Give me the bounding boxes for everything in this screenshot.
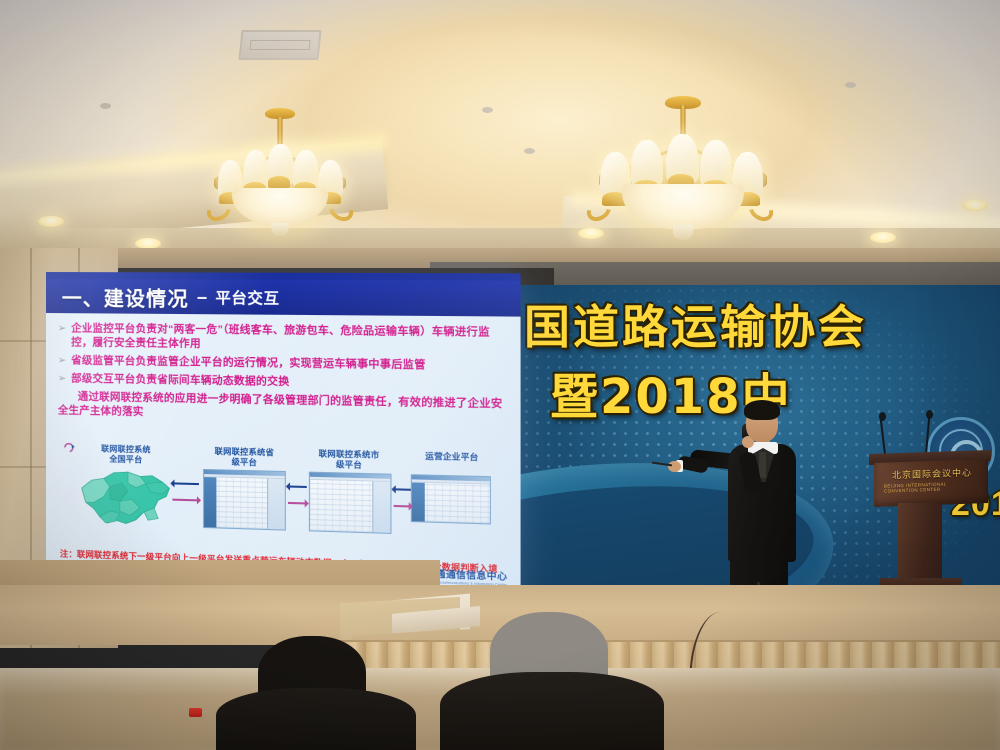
audience-shoulders-right <box>440 672 664 750</box>
sprinkler-icon <box>100 103 111 109</box>
slide-title-dash: – <box>197 286 207 307</box>
diagram-screenshot-province <box>203 469 286 531</box>
venue-name-cn: 北京国际会议中心 <box>892 469 972 482</box>
ceiling-vent <box>238 30 321 60</box>
chandelier-left <box>200 108 360 238</box>
chandelier-right <box>578 96 788 246</box>
slide-title-sub: 平台交互 <box>215 286 279 308</box>
speaker-hair <box>744 400 780 420</box>
arrow-left-to-city <box>394 488 411 491</box>
sprinkler-icon <box>482 107 493 113</box>
ceiling-downlight <box>870 232 896 243</box>
arrow-right-from-city <box>394 505 411 508</box>
sprinkler-icon <box>845 82 856 88</box>
bullet-text: 部级交互平台负责省际间车辆动态数据的交换 <box>71 371 289 389</box>
slide-bullet: ➢ 企业监控平台负责对“两客一危”（班线客车、旅游包车、危险品运输车辆）车辆进行… <box>58 321 507 355</box>
arrow-left-to-province <box>288 485 307 488</box>
ceiling-downlight <box>962 200 988 211</box>
bullet-text: 企业监控平台负责对“两客一危”（班线客车、旅游包车、危险品运输车辆）车辆进行监控… <box>71 321 507 355</box>
diagram-node-province: 联网联控系统省 级平台 <box>197 446 292 469</box>
slide-title-bar: 一、建设情况 – 平台交互 <box>46 279 521 317</box>
backdrop-title-line1: 中国道路运输协会 <box>475 291 867 357</box>
platform-badge-icon <box>64 442 76 452</box>
red-object-on-table <box>189 708 202 717</box>
podium-stem <box>898 503 942 583</box>
bullet-text: 省级监管平台负责监管企业平台的运行情况，实现营运车辆事中事后监管 <box>71 353 425 373</box>
arrow-left-to-national <box>172 482 199 485</box>
diagram-node-enterprise: 运营企业平台 <box>402 451 502 464</box>
diagram-node-label: 联网联控系统市 级平台 <box>300 449 397 472</box>
platform-interaction-diagram: 联网联控系统 全国平台 <box>56 443 510 554</box>
arrow-right-from-national <box>172 499 199 502</box>
presentation-slide: 一、建设情况 – 平台交互 ➢ 企业监控平台负责对“两客一危”（班线客车、旅游包… <box>46 272 521 609</box>
audience-shoulders-left <box>216 688 416 750</box>
conference-photo-scene: 中国道路运输协会 暨2018中 201 北京国际会议中心 Beijing Int… <box>0 0 1000 750</box>
slide-paragraph: 通过联网联控系统的应用进一步明确了各级管理部门的监管责任，有效的推进了企业安全生… <box>58 389 507 428</box>
diagram-node-city: 联网联控系统市 级平台 <box>300 449 397 472</box>
arrow-right-from-province <box>288 502 307 505</box>
speaker-right-hand <box>668 461 681 472</box>
china-map-icon <box>70 462 175 532</box>
venue-name-en: Beijing International Convention Center <box>884 480 980 493</box>
diagram-screenshot-enterprise <box>411 474 491 524</box>
mic-head-icon <box>926 410 933 419</box>
bullet-arrow-icon: ➢ <box>58 353 66 368</box>
speaker-tie <box>759 452 766 478</box>
mic-head-icon <box>879 412 886 421</box>
diagram-screenshot-city <box>309 472 392 534</box>
ceiling-downlight <box>38 216 64 227</box>
diagram-node-label: 联网联控系统省 级平台 <box>197 446 292 469</box>
podium-nameplate: 北京国际会议中心 Beijing International Conventio… <box>884 466 980 495</box>
diagram-node-label: 运营企业平台 <box>402 451 502 464</box>
slide-title-main: 一、建设情况 <box>62 282 189 312</box>
projection-screen[interactable]: 一、建设情况 – 平台交互 ➢ 企业监控平台负责对“两客一危”（班线客车、旅游包… <box>46 272 521 609</box>
bullet-arrow-icon: ➢ <box>58 371 66 386</box>
sprinkler-icon <box>524 148 535 154</box>
bullet-arrow-icon: ➢ <box>58 321 66 350</box>
